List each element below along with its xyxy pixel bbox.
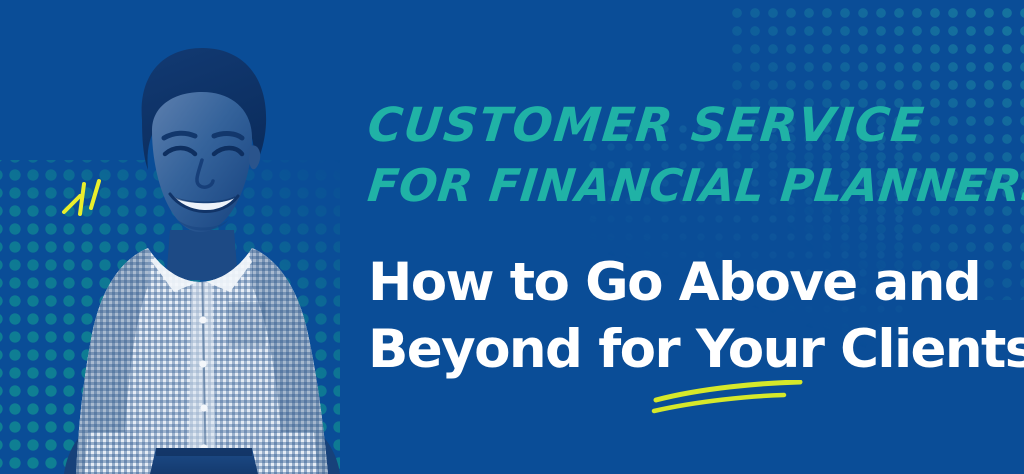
spark-line-left — [64, 196, 80, 212]
portrait-lap — [64, 406, 340, 474]
headline-line-2: Beyond for Your Clients — [368, 317, 998, 382]
portrait-head — [142, 48, 267, 232]
banner-text-block: Customer Service for Financial Planners:… — [368, 96, 998, 414]
eyebrow-line-1: Customer Service — [365, 96, 1001, 156]
spark-lines-icon — [58, 168, 112, 224]
portrait-shirt — [52, 234, 352, 474]
hand-drawn-underline-icon — [650, 380, 830, 414]
portrait-photo — [52, 34, 352, 474]
spark-line-middle — [80, 184, 84, 214]
article-header-banner: Customer Service for Financial Planners:… — [0, 0, 1024, 474]
headline-line-1: How to Go Above and — [368, 250, 998, 315]
eyebrow-line-2: for Financial Planners: — [365, 156, 1001, 216]
headline-underline-wrap — [650, 380, 830, 414]
portrait-jeans — [150, 448, 258, 474]
dot-grid-bottom-left-icon — [0, 160, 340, 474]
spark-line-right — [91, 181, 99, 208]
portrait-cuffs — [84, 432, 318, 474]
